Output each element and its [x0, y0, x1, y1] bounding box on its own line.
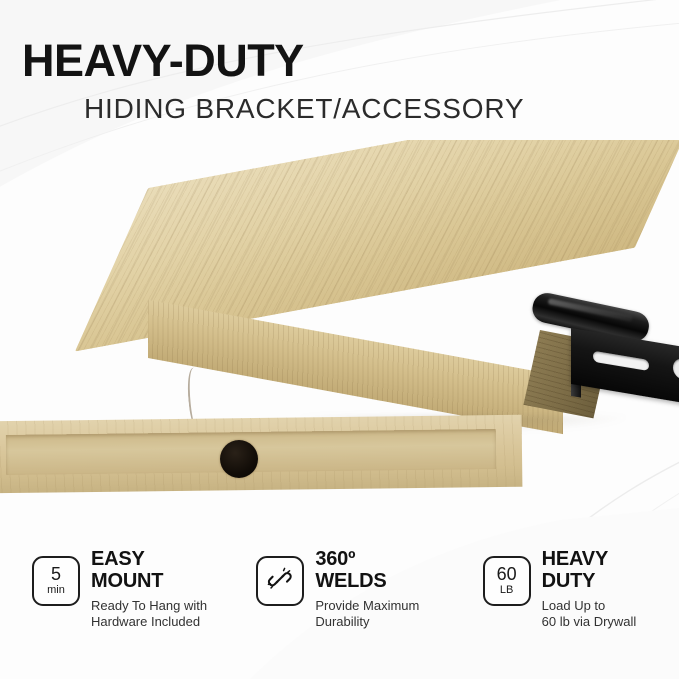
feature-badge-5-min: 5 min	[32, 556, 80, 606]
badge-value: 5	[51, 565, 61, 583]
feature-desc-line1: Load Up to	[542, 598, 637, 614]
feature-text: EASY MOUNT Ready To Hang with Hardware I…	[80, 548, 207, 630]
bracket-screw-slot	[593, 351, 649, 371]
feature-title-line2: MOUNT	[91, 570, 207, 592]
hero-product-photo	[0, 140, 679, 530]
shelf-back-edge	[0, 418, 522, 490]
badge-unit: min	[47, 584, 65, 597]
feature-title-line1: EASY	[91, 548, 207, 570]
back-edge-drilled-hole	[220, 440, 258, 478]
feature-easy-mount: 5 min EASY MOUNT Ready To Hang with Hard…	[0, 548, 228, 679]
bracket-screw-hole	[673, 357, 679, 382]
feature-desc-line2: 60 lb via Drywall	[542, 614, 637, 630]
feature-badge-60-lb: 60 LB	[483, 556, 531, 606]
badge-value: 60	[497, 565, 517, 583]
badge-unit: LB	[500, 584, 513, 597]
feature-desc-line2: Durability	[315, 614, 419, 630]
feature-heavy-duty: 60 LB HEAVY DUTY Load Up to 60 lb via Dr…	[453, 548, 679, 679]
page-subtitle: HIDING BRACKET/ACCESSORY	[0, 92, 679, 125]
headline-block: HEAVY-DUTY HIDING BRACKET/ACCESSORY	[0, 36, 679, 125]
feature-desc-line2: Hardware Included	[91, 614, 207, 630]
product-marketing-image: HEAVY-DUTY HIDING BRACKET/ACCESSORY	[0, 0, 679, 679]
feature-title-line1: HEAVY	[542, 548, 637, 570]
feature-text: HEAVY DUTY Load Up to 60 lb via Drywall	[531, 548, 637, 630]
feature-title-line2: WELDS	[315, 570, 419, 592]
feature-desc-line1: Ready To Hang with	[91, 598, 207, 614]
feature-title-line1: 360º	[315, 548, 419, 570]
feature-badge-welds	[256, 556, 304, 606]
feature-text: 360º WELDS Provide Maximum Durability	[304, 548, 419, 630]
page-title: HEAVY-DUTY	[0, 36, 679, 86]
feature-desc-line1: Provide Maximum	[315, 598, 419, 614]
bracket-mounting-plate	[571, 328, 679, 409]
steel-bracket	[523, 280, 679, 400]
feature-title-line2: DUTY	[542, 570, 637, 592]
feature-strip: 5 min EASY MOUNT Ready To Hang with Hard…	[0, 548, 679, 679]
feature-360-welds: 360º WELDS Provide Maximum Durability	[228, 548, 452, 679]
chain-link-weld-icon	[267, 566, 293, 597]
